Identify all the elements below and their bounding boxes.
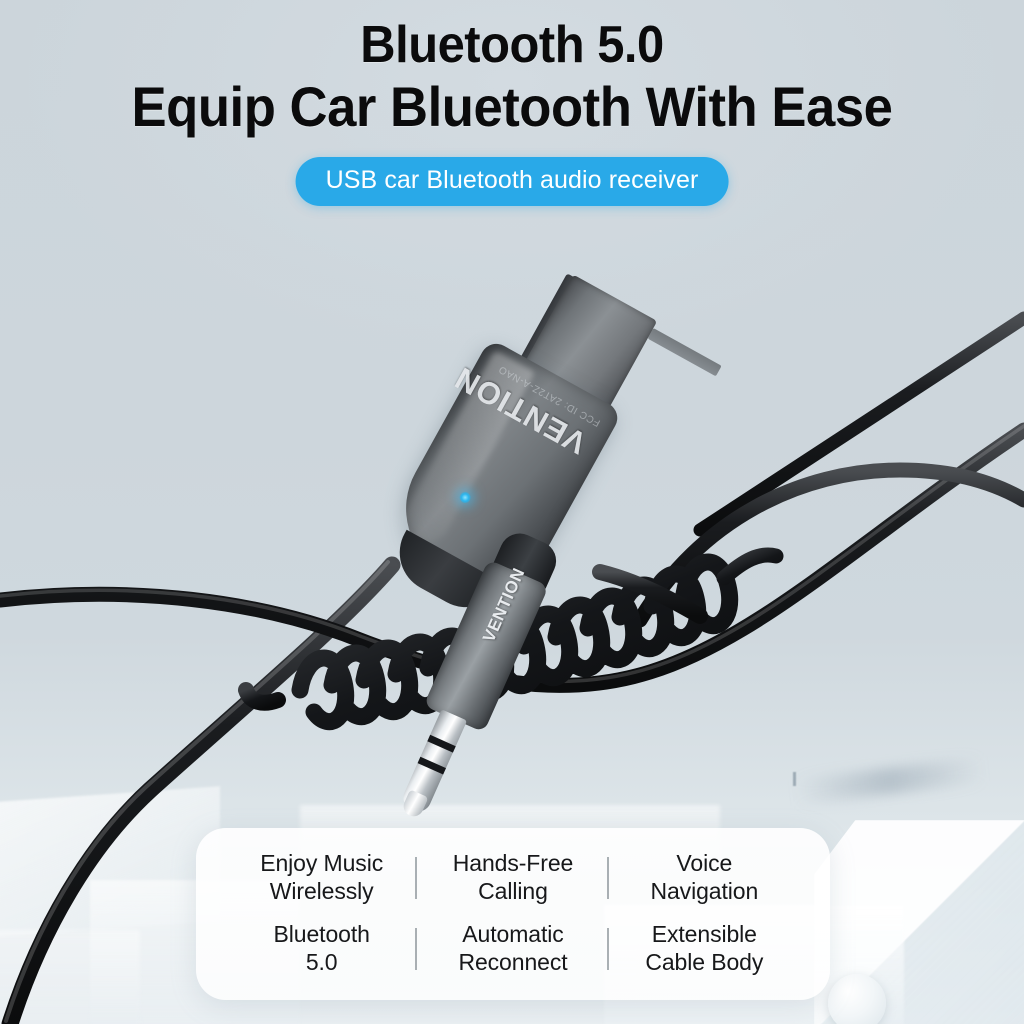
feature-line-2: Cable Body [645, 949, 763, 975]
feature-text: Automatic Reconnect [458, 921, 567, 975]
feature-line-1: Enjoy Music [260, 850, 383, 876]
feature-card: Enjoy Music Wirelessly Hands-Free Callin… [196, 828, 830, 1000]
feature-text: Hands-Free Calling [453, 850, 573, 904]
product-banner: Bluetooth 5.0 Equip Car Bluetooth With E… [0, 0, 1024, 1024]
feature-text: Bluetooth 5.0 [274, 921, 370, 975]
feature-line-2: 5.0 [306, 949, 338, 975]
coil-tail-right [724, 555, 776, 578]
feature-item-automatic-reconnect: Automatic Reconnect [417, 913, 608, 984]
feature-text: Enjoy Music Wirelessly [260, 850, 383, 904]
feature-line-2: Wirelessly [270, 878, 374, 904]
feature-item-hands-free: Hands-Free Calling [417, 842, 608, 913]
feature-line-1: Bluetooth [274, 921, 370, 947]
feature-line-1: Extensible [652, 921, 757, 947]
feature-line-1: Automatic [462, 921, 563, 947]
feature-item-extensible-cable: Extensible Cable Body [609, 913, 800, 984]
feature-item-enjoy-music: Enjoy Music Wirelessly [226, 842, 417, 913]
feature-text: Extensible Cable Body [645, 921, 763, 975]
feature-line-1: Hands-Free [453, 850, 573, 876]
feature-line-2: Navigation [650, 878, 758, 904]
feature-item-voice-navigation: Voice Navigation [609, 842, 800, 913]
feature-line-1: Voice [676, 850, 732, 876]
feature-item-bluetooth-version: Bluetooth 5.0 [226, 913, 417, 984]
feature-text: Voice Navigation [650, 850, 758, 904]
feature-line-2: Calling [478, 878, 548, 904]
cable-upper-right [700, 318, 1024, 530]
feature-grid: Enjoy Music Wirelessly Hands-Free Callin… [196, 828, 830, 1000]
feature-line-2: Reconnect [458, 949, 567, 975]
